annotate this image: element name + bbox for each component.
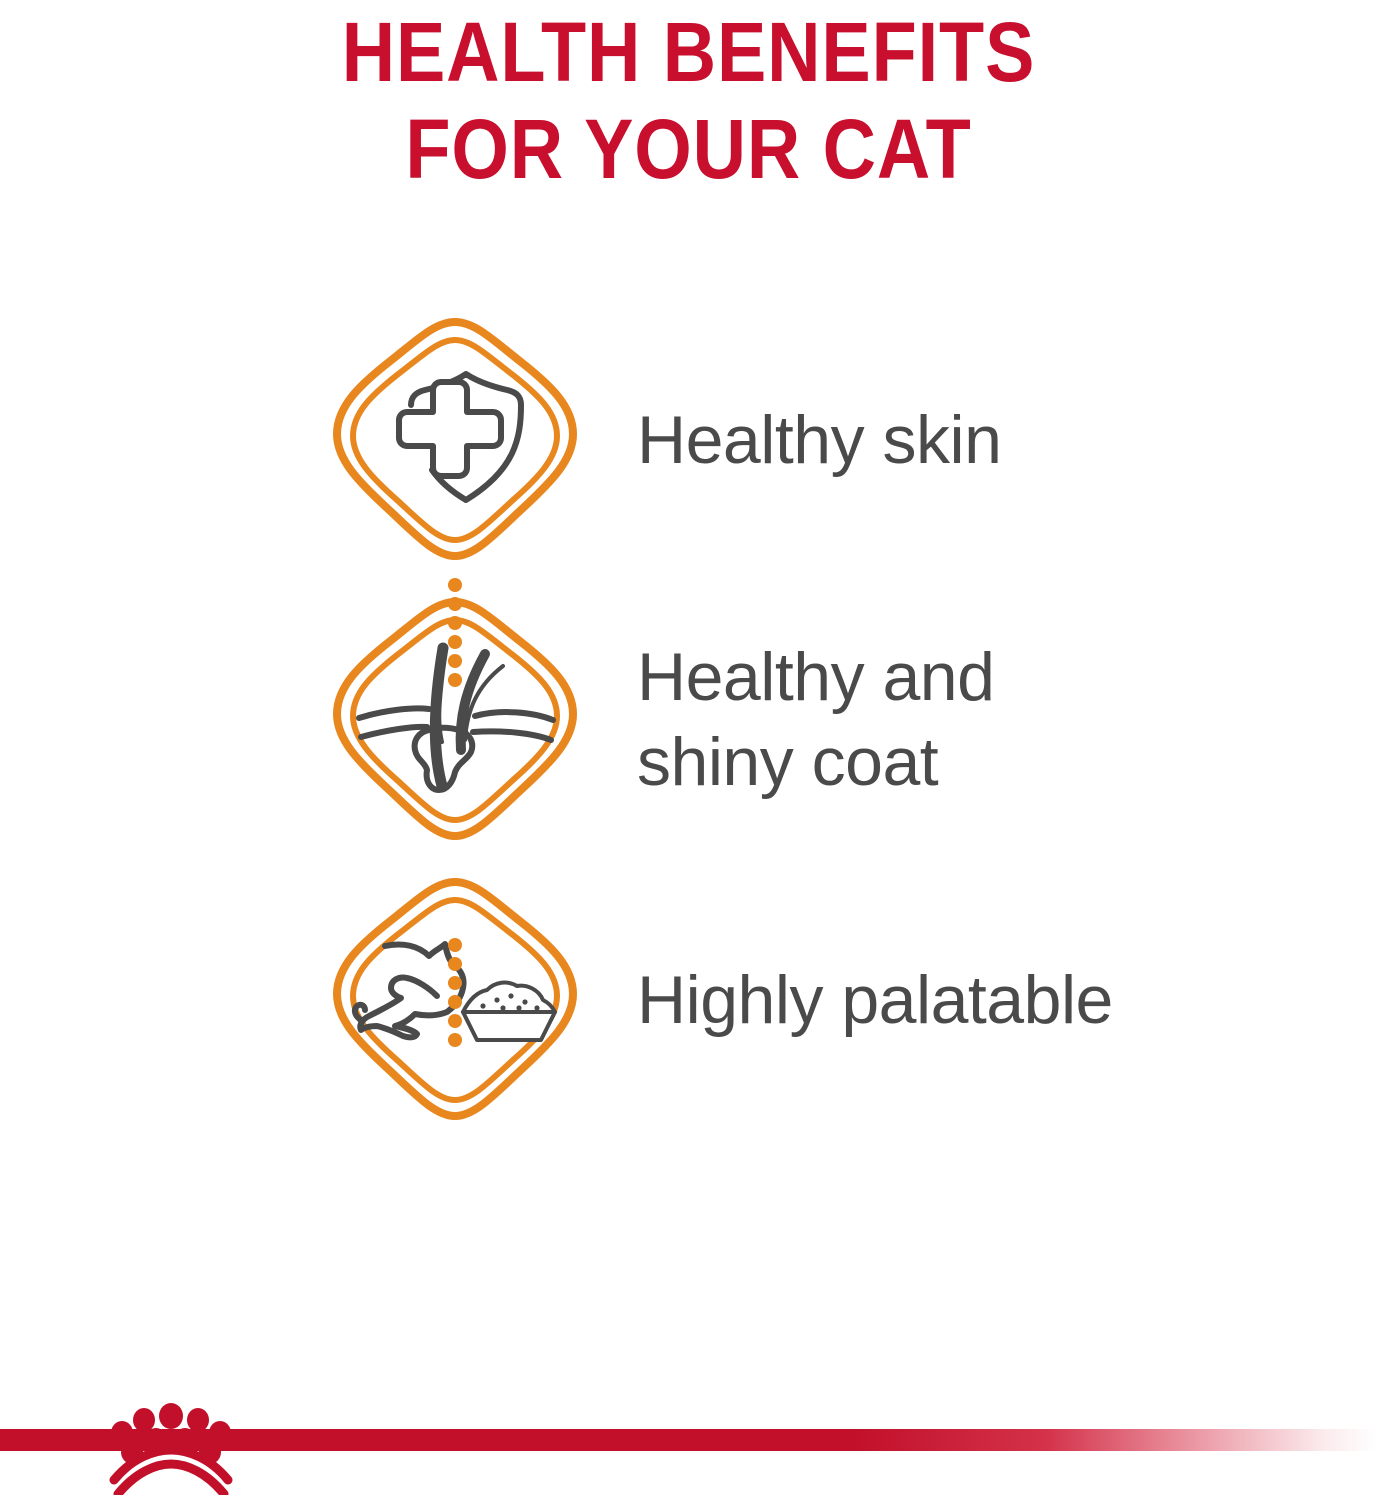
connector-dot	[448, 938, 462, 952]
benefits-list: Healthy skin	[0, 300, 1377, 1140]
connector-dot	[448, 616, 462, 630]
connector-dot	[448, 654, 462, 668]
connector-dot	[448, 976, 462, 990]
royal-canin-crown-logo	[96, 1400, 246, 1495]
connector-dot	[448, 1014, 462, 1028]
connector-dot	[448, 635, 462, 649]
connector-dot	[448, 957, 462, 971]
page-title-line-1: HEALTH BENEFITS	[83, 4, 1295, 101]
footer	[0, 1400, 1377, 1500]
benefit-label: Healthy and shiny coat	[637, 635, 994, 805]
benefit-row: Healthy and shiny coat	[0, 580, 1377, 860]
connector-dot	[448, 1033, 462, 1047]
benefit-badge	[325, 310, 585, 570]
page-title: HEALTH BENEFITS FOR YOUR CAT	[0, 0, 1377, 198]
crown-icon	[96, 1400, 246, 1495]
benefit-label: Healthy skin	[637, 398, 1001, 483]
page-title-line-2: FOR YOUR CAT	[83, 101, 1295, 198]
benefit-row: Highly palatable	[0, 860, 1377, 1140]
connector-dot	[448, 578, 462, 592]
connector-dot	[448, 597, 462, 611]
health-benefits-page: HEALTH BENEFITS FOR YOUR CAT Healthy ski…	[0, 0, 1377, 1500]
connector-dots-2	[448, 938, 464, 1048]
benefit-row: Healthy skin	[0, 300, 1377, 580]
shield-plus-icon	[325, 310, 585, 570]
connector-dots-1	[448, 578, 464, 688]
connector-dot	[448, 995, 462, 1009]
benefit-label: Highly palatable	[637, 958, 1113, 1043]
connector-dot	[448, 673, 462, 687]
